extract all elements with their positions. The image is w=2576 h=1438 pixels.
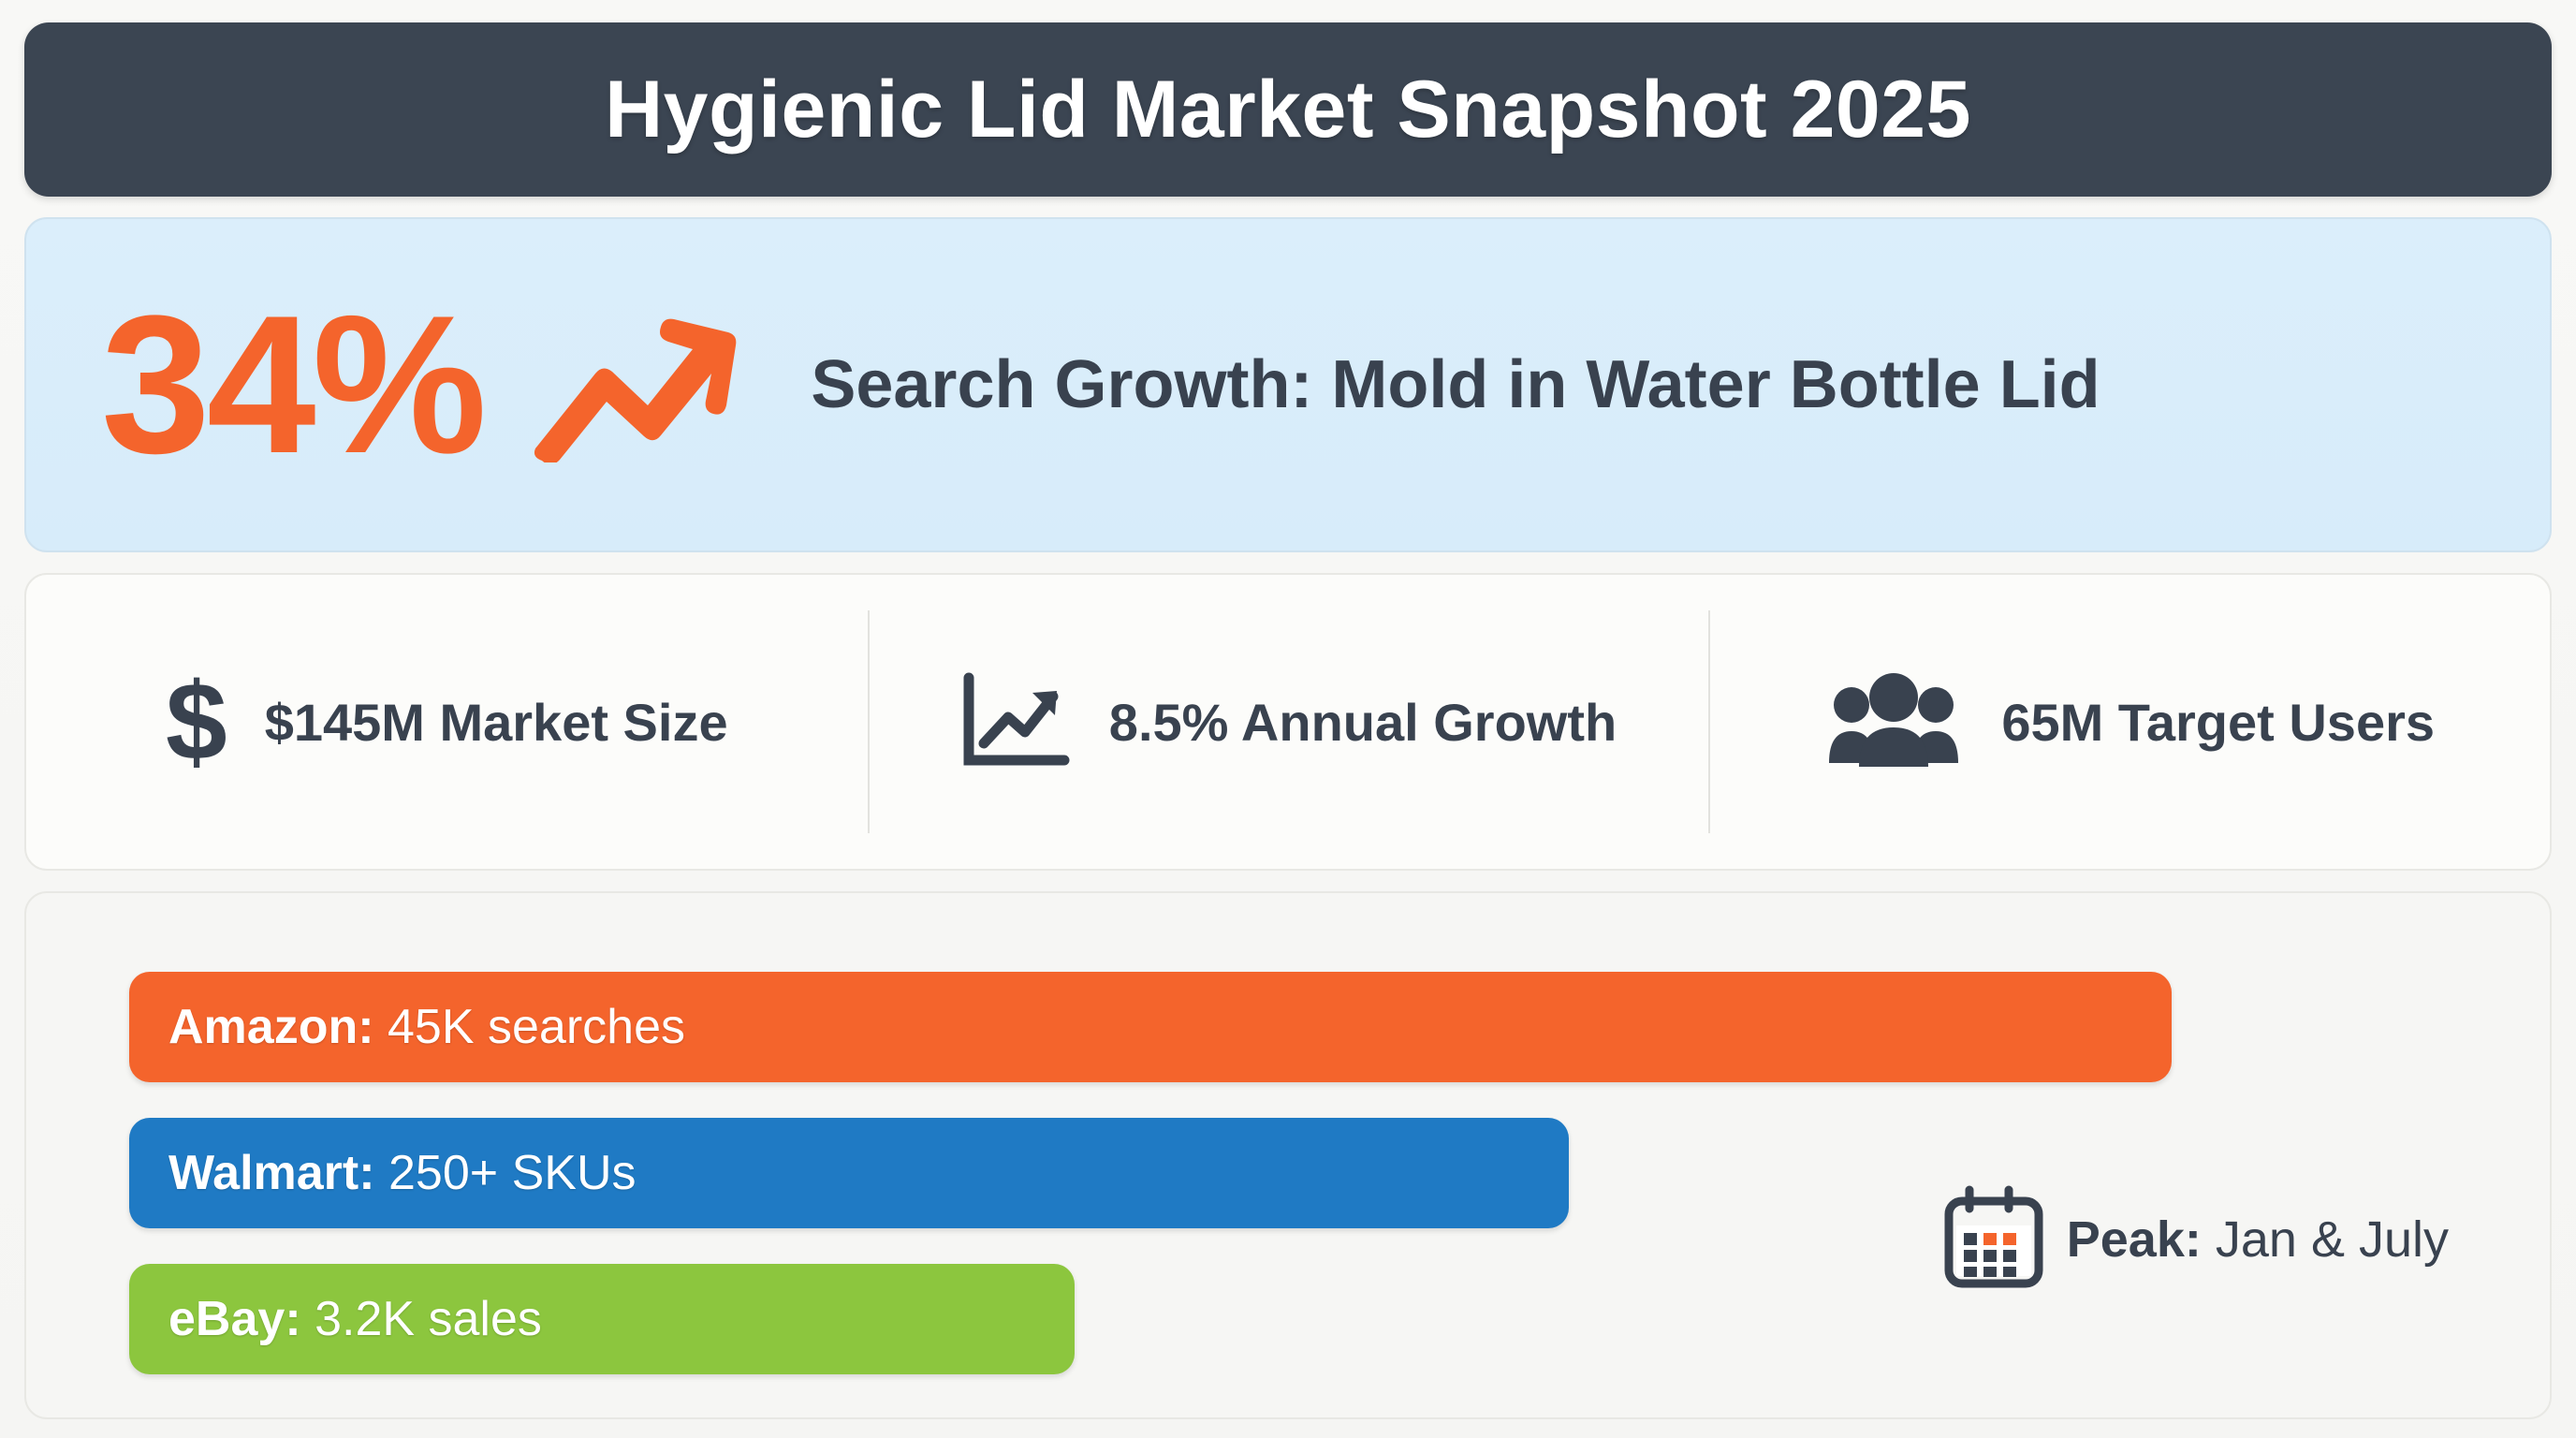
stat-target-users: 65M Target Users bbox=[1708, 575, 2550, 869]
bar-label-ebay: eBay: 3.2K sales bbox=[168, 1291, 542, 1347]
hero-growth-value: 34% bbox=[101, 291, 483, 478]
page-title: Hygienic Lid Market Snapshot 2025 bbox=[605, 64, 1971, 156]
bar-name-ebay: eBay: bbox=[168, 1292, 301, 1346]
peak-value: Jan & July bbox=[2216, 1211, 2449, 1268]
bar-row-walmart: Walmart: 250+ SKUs bbox=[129, 1118, 1569, 1228]
channel-bars-list: Amazon: 45K searches Walmart: 250+ SKUs … bbox=[26, 972, 2550, 1374]
bar-name-walmart: Walmart: bbox=[168, 1146, 375, 1200]
bar-value-walmart: 250+ SKUs bbox=[388, 1146, 637, 1200]
hero-panel: 34% Search Growth: Mold in Water Bottle … bbox=[24, 217, 2552, 552]
line-chart-growth-icon bbox=[959, 670, 1072, 773]
calendar-icon bbox=[1941, 1184, 2046, 1294]
stat-target-users-label: 65M Target Users bbox=[2001, 692, 2435, 753]
stat-annual-growth: 8.5% Annual Growth bbox=[868, 575, 1709, 869]
dollar-glyph: $ bbox=[166, 667, 227, 777]
peak-seasonality: Peak: Jan & July bbox=[1941, 1184, 2449, 1294]
stats-strip: $ $145M Market Size 8.5% Annual Growth bbox=[24, 573, 2552, 871]
bar-value-amazon: 45K searches bbox=[388, 1000, 685, 1054]
bar-label-walmart: Walmart: 250+ SKUs bbox=[168, 1145, 637, 1201]
bar-row-amazon: Amazon: 45K searches bbox=[129, 972, 2172, 1082]
stat-annual-growth-label: 8.5% Annual Growth bbox=[1109, 692, 1617, 753]
trending-up-arrow-icon bbox=[528, 308, 743, 462]
dollar-sign-icon: $ bbox=[166, 667, 227, 777]
channel-bars-panel: Amazon: 45K searches Walmart: 250+ SKUs … bbox=[24, 891, 2552, 1419]
bar-name-amazon: Amazon: bbox=[168, 1000, 374, 1054]
peak-label: Peak: bbox=[2067, 1211, 2202, 1268]
infographic-page: Hygienic Lid Market Snapshot 2025 34% Se… bbox=[0, 0, 2576, 1438]
stat-market-size-label: $145M Market Size bbox=[265, 692, 728, 753]
peak-text: Peak: Jan & July bbox=[2067, 1211, 2449, 1269]
bar-label-amazon: Amazon: 45K searches bbox=[168, 999, 685, 1055]
hero-label: Search Growth: Mold in Water Bottle Lid bbox=[811, 346, 2100, 423]
stat-market-size: $ $145M Market Size bbox=[26, 575, 868, 869]
bar-value-ebay: 3.2K sales bbox=[315, 1292, 542, 1346]
title-bar: Hygienic Lid Market Snapshot 2025 bbox=[24, 22, 2552, 197]
people-group-icon bbox=[1823, 673, 1964, 770]
bar-row-ebay: eBay: 3.2K sales bbox=[129, 1264, 1075, 1374]
